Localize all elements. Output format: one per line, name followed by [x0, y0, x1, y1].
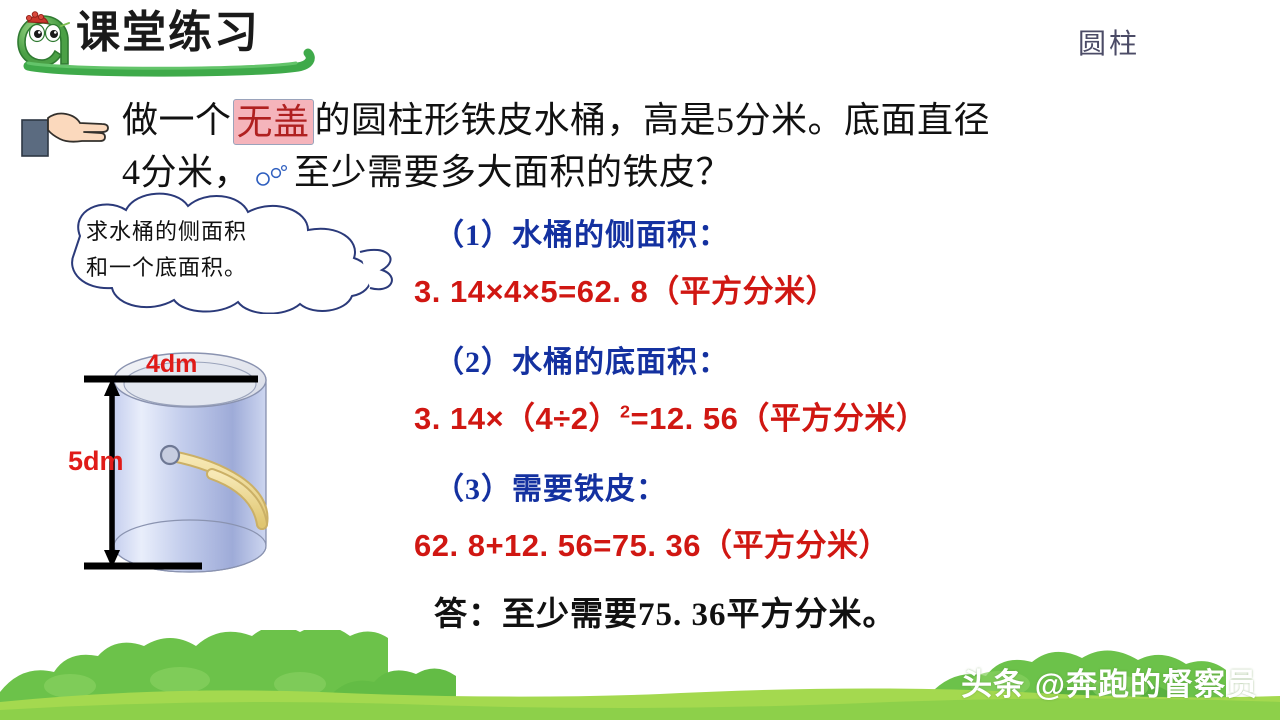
pointing-hand-icon	[18, 98, 118, 162]
step-2-expression: 3. 14×（4÷2）2=12. 56（平方分米）	[414, 393, 1252, 438]
question-line2-before: 4分米，	[122, 152, 250, 192]
final-answer: 答：至少需要75. 36平方分米。	[434, 587, 1252, 635]
thought-line-2: 和一个底面积。	[86, 250, 346, 286]
thought-line-1: 求水桶的侧面积	[86, 214, 346, 250]
diameter-label: 4dm	[146, 350, 197, 379]
grass-footer: 头条 @奔跑的督察员	[0, 630, 1280, 720]
step-2-expr-suffix: =12. 56	[631, 401, 739, 436]
question-line2-after: 至少需要多大面积的铁皮？	[294, 152, 732, 192]
step-3-expr-unit: （平方分米）	[701, 528, 890, 563]
step-2-expr-unit: （平方分米）	[738, 401, 927, 436]
question-line-1: 做一个无盖的圆柱形铁皮水桶，高是5分米。底面直径	[122, 94, 1182, 146]
slide-root: 课堂练习 圆柱 做一个无盖的圆柱形铁皮水桶，高是5分米。底面直径 4分米， 至少…	[0, 0, 1280, 720]
step-1-expr-main: 3. 14×4×5=62. 8	[414, 274, 648, 309]
step-1-expression: 3. 14×4×5=62. 8（平方分米）	[414, 266, 1252, 311]
step-1-label: （1）水桶的侧面积：	[434, 210, 1252, 254]
step-2-label: （2）水桶的底面积：	[434, 337, 1252, 381]
step-2-expr-prefix: 3. 14×（4÷2）	[414, 401, 620, 436]
solution-steps: （1）水桶的侧面积： 3. 14×4×5=62. 8（平方分米） （2）水桶的底…	[412, 210, 1252, 635]
step-3-expr-main: 62. 8+12. 56=75. 36	[414, 528, 701, 563]
thought-bubble: 求水桶的侧面积 和一个底面积。	[8, 192, 428, 314]
question-text: 做一个无盖的圆柱形铁皮水桶，高是5分米。底面直径 4分米， 至少需要多大面积的铁…	[122, 94, 1182, 198]
header-underline-swoosh	[22, 48, 322, 78]
slide-header: 课堂练习 圆柱	[0, 0, 1280, 80]
watermark-text: 头条 @奔跑的督察员	[961, 659, 1258, 704]
thought-bubble-text: 求水桶的侧面积 和一个底面积。	[86, 214, 346, 286]
question-line1-after: 的圆柱形铁皮水桶，高是5分米。底面直径	[315, 100, 991, 140]
question-line1-before: 做一个	[122, 100, 232, 140]
highlight-wugai: 无盖	[233, 99, 314, 145]
step-1-expr-unit: （平方分米）	[648, 274, 837, 309]
cylinder-bucket-diagram: 4dm 5dm	[62, 338, 352, 600]
step-3-expression: 62. 8+12. 56=75. 36（平方分米）	[414, 520, 1252, 565]
lesson-title: 圆柱	[1078, 22, 1140, 62]
step-3-label: （3）需要铁皮：	[434, 464, 1252, 508]
step-2-exponent: 2	[620, 402, 631, 422]
height-label: 5dm	[68, 446, 124, 477]
decorative-bubbles-icon	[250, 148, 294, 168]
question-line-2: 4分米， 至少需要多大面积的铁皮？	[122, 146, 1182, 198]
